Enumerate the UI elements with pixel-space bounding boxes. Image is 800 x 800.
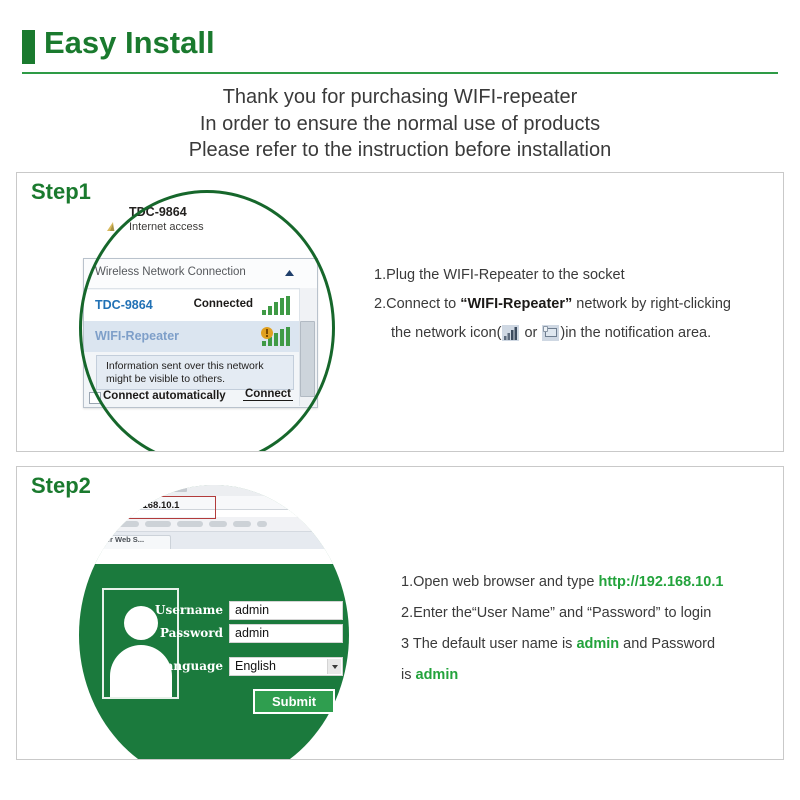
instr3-prefix: the network icon( [391, 325, 501, 341]
s2i4-plain: is [401, 667, 416, 683]
password-row: Password admin [161, 624, 341, 643]
computer-monitor-icon [542, 325, 559, 341]
language-row: Language English [161, 657, 341, 676]
step2-instructions: 1.Open web browser and type http://192.1… [401, 567, 784, 691]
vertical-scrollbar[interactable] [299, 288, 317, 406]
router-login-form: Username admin Password admin Language E… [79, 485, 349, 760]
s2i4-pass: admin [416, 667, 459, 683]
connect-automatically-label: Connect automatically [103, 390, 226, 402]
warning-line-1: Information sent over this network [106, 360, 264, 372]
page-header: Easy Install [22, 28, 778, 74]
step1-instructions: 1.Plug the WIFI-Repeater to the socket 2… [374, 261, 774, 348]
submit-button-label: Submit [272, 694, 316, 709]
instr3-mid: or [520, 325, 541, 341]
wifi-tray-icon [105, 219, 121, 235]
step1-label: Step1 [31, 179, 91, 205]
chevron-up-icon[interactable] [284, 269, 295, 277]
s2i3-plain: 3 The default user name is [401, 636, 576, 652]
network-row-tdc-9864[interactable]: TDC-9864 Connected [84, 290, 299, 321]
language-label: Language [157, 659, 223, 673]
username-row: Username admin [161, 601, 341, 620]
easy-install-page: Easy Install Thank you for purchasing WI… [0, 0, 800, 800]
flyout-header-label: Wireless Network Connection [95, 266, 246, 278]
username-value: admin [235, 603, 269, 617]
s2i3-tail: and Password [619, 636, 715, 652]
username-label: Username [155, 603, 223, 617]
signal-bars-warning-icon [261, 327, 291, 346]
step1-instruction-3: the network icon( or )in the notificatio… [374, 319, 774, 348]
s2i3-user: admin [576, 636, 619, 652]
intro-line-3: Please refer to the instruction before i… [0, 137, 800, 164]
connect-row: Connect automatically Connect [84, 390, 299, 407]
language-select[interactable]: English [229, 657, 343, 676]
warning-line-2: might be visible to others. [106, 373, 225, 385]
signal-bars-icon [261, 296, 291, 315]
network-warning-tooltip: Information sent over this network might… [96, 355, 294, 390]
instr2-bold: “WIFI-Repeater” [460, 296, 572, 312]
tooltip-ssid: TDC-9864 [129, 205, 187, 219]
network-status: Connected [194, 298, 253, 310]
scrollbar-thumb[interactable] [300, 321, 315, 397]
header-divider [22, 72, 778, 74]
intro-text: Thank you for purchasing WIFI-repeater I… [0, 84, 800, 164]
network-row-wifi-repeater[interactable]: WIFI-Repeater [84, 321, 299, 352]
signal-bars-icon [502, 325, 519, 341]
step1-panel: Step1 TDC-9864 Internet access Wireless … [16, 172, 784, 452]
instr2-prefix: 2.Connect to [374, 296, 460, 312]
flyout-header: Wireless Network Connection [84, 259, 317, 289]
tooltip-status: Internet access [129, 221, 204, 233]
instr3-suffix: )in the notification area. [560, 325, 711, 341]
step2-instruction-1: 1.Open web browser and type http://192.1… [401, 567, 784, 598]
avatar-head [124, 606, 158, 640]
chevron-down-icon[interactable] [327, 659, 341, 674]
password-input[interactable]: admin [229, 624, 343, 643]
password-value: admin [235, 626, 269, 640]
step1-instruction-1: 1.Plug the WIFI-Repeater to the socket [374, 261, 774, 290]
network-name: WIFI-Repeater [95, 329, 179, 343]
submit-button[interactable]: Submit [253, 689, 335, 714]
step2-panel: Step2 [16, 466, 784, 760]
step1-instruction-2: 2.Connect to “WIFI-Repeater” network by … [374, 290, 774, 319]
network-name: TDC-9864 [95, 298, 153, 312]
s2i1-plain: 1.Open web browser and type [401, 574, 598, 590]
username-input[interactable]: admin [229, 601, 343, 620]
language-value: English [235, 659, 276, 673]
step2-instruction-3: 3 The default user name is admin and Pas… [401, 629, 784, 660]
connect-button[interactable]: Connect [243, 388, 293, 401]
wifi-tray-tooltip: TDC-9864 Internet access [91, 205, 287, 245]
password-label: Password [160, 626, 223, 640]
page-title: Easy Install [44, 25, 215, 61]
s2i1-url: http://192.168.10.1 [598, 574, 723, 590]
instr2-suffix: network by right-clicking [572, 296, 731, 312]
wireless-network-flyout: Wireless Network Connection TDC-9864 Con… [83, 258, 318, 408]
step2-label: Step2 [31, 473, 91, 499]
green-bar-icon [22, 30, 35, 64]
intro-line-1: Thank you for purchasing WIFI-repeater [0, 84, 800, 111]
connect-automatically-checkbox[interactable] [89, 392, 101, 404]
intro-line-2: In order to ensure the normal use of pro… [0, 111, 800, 138]
step2-instruction-4: is admin [401, 660, 784, 691]
step2-instruction-2: 2.Enter the“User Name” and “Password” to… [401, 598, 784, 629]
